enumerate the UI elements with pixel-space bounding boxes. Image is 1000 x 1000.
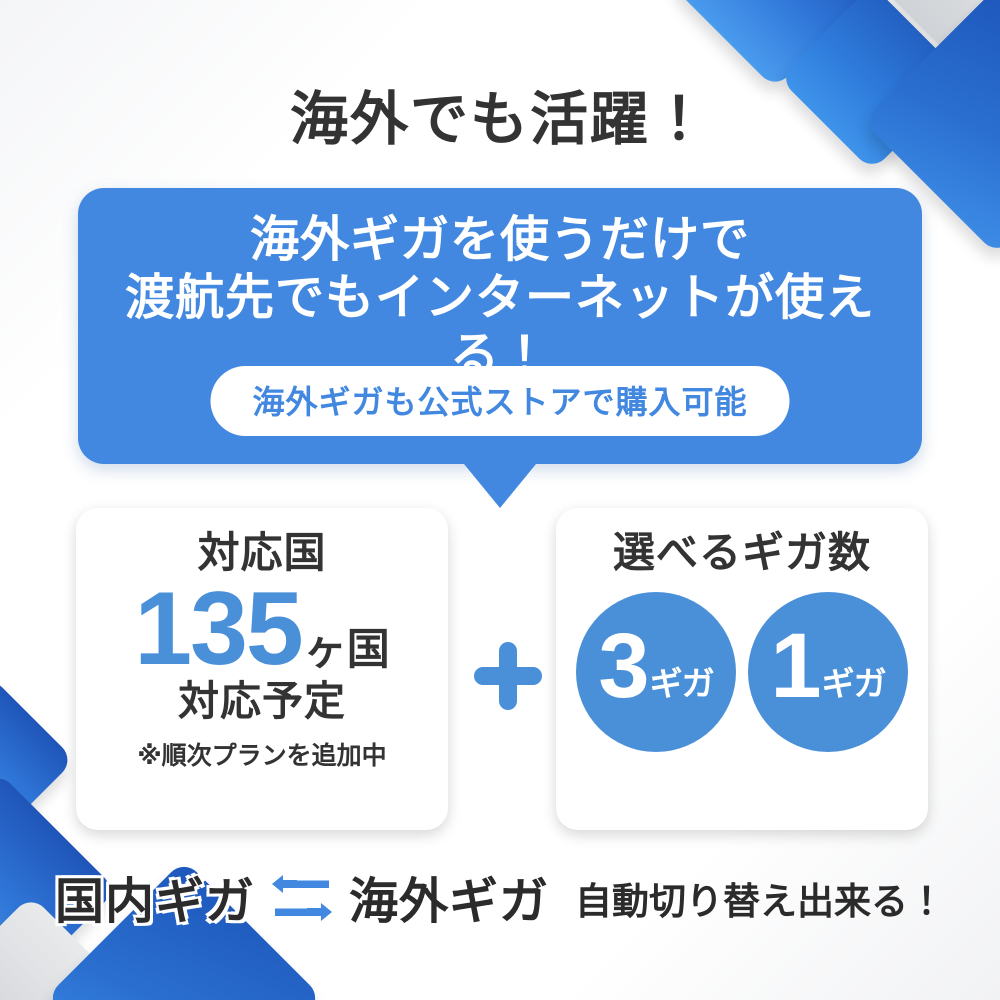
card-supported-countries: 対応国 135 ヶ国 対応予定 ※順次プランを追加中 (76, 508, 448, 830)
highlight-panel: 海外ギガを使うだけで 渡航先でもインターネットが使える！ 海外ギガも公式ストアで… (78, 188, 922, 464)
page-title: 海外でも活躍！ (0, 72, 1000, 156)
plan-option-1gb-number: 1 (770, 620, 821, 712)
card-left-number-row: 135 ヶ国 (76, 580, 448, 679)
plus-icon (468, 636, 548, 716)
exchange-arrows-icon (271, 873, 333, 923)
plan-option-3gb: 3 ギガ (576, 592, 736, 752)
plan-option-1gb-unit: ギガ (822, 667, 886, 700)
card-left-title: 対応国 (76, 508, 448, 574)
decorative-diamond-icon (0, 675, 75, 845)
card-right-title: 選べるギガ数 (556, 508, 928, 574)
store-availability-pill: 海外ギガも公式ストアで購入可能 (210, 366, 789, 436)
card-left-subtitle: 対応予定 (76, 681, 448, 722)
highlight-panel-text: 海外ギガを使うだけで 渡航先でもインターネットが使える！ (78, 212, 922, 385)
auto-switch-row: 国内ギガ 海外ギガ 自動切り替え出来る！ (0, 862, 1000, 933)
auto-switch-label: 自動切り替え出来る！ (575, 871, 945, 925)
highlight-line-1: 海外ギガを使うだけで (78, 212, 922, 270)
card-data-plans: 選べるギガ数 3 ギガ 1 ギガ (556, 508, 928, 830)
plan-option-3gb-unit: ギガ (650, 667, 714, 700)
domestic-data-label: 国内ギガ (55, 862, 255, 933)
plan-option-list: 3 ギガ 1 ギガ (556, 592, 928, 752)
overseas-data-label: 海外ギガ (349, 862, 549, 933)
supported-country-count: 135 (134, 580, 302, 679)
promo-banner: 海外でも活躍！ 海外ギガを使うだけで 渡航先でもインターネットが使える！ 海外ギ… (0, 0, 1000, 1000)
card-left-note: ※順次プランを追加中 (76, 736, 448, 772)
highlight-panel-pointer (464, 464, 536, 508)
supported-country-unit: ヶ国 (304, 615, 390, 677)
plan-option-1gb: 1 ギガ (748, 592, 908, 752)
plan-option-3gb-number: 3 (598, 620, 649, 712)
